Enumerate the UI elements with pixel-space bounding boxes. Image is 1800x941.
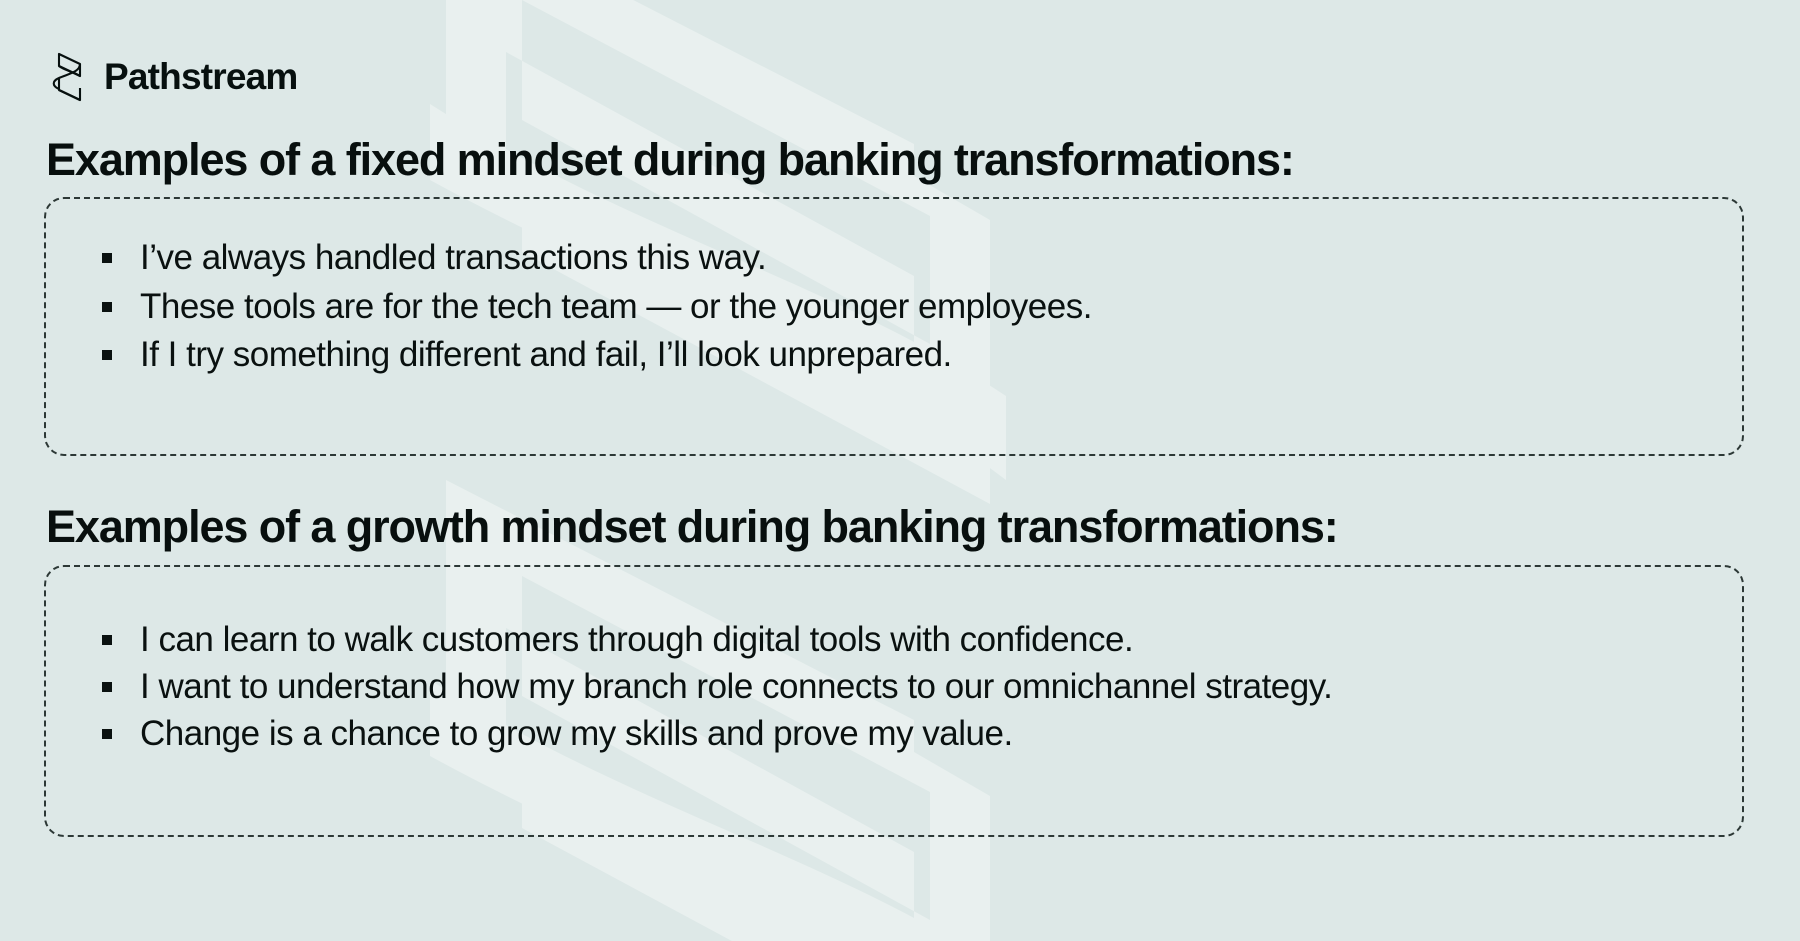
section-heading-growth: Examples of a growth mindset during bank… [46,502,1744,552]
brand-name: Pathstream [104,58,298,95]
square-bullet-icon [102,729,112,739]
pathstream-helix-icon [50,50,88,102]
square-bullet-icon [102,635,112,645]
square-bullet-icon [102,682,112,692]
list-item: I want to understand how my branch role … [102,666,1702,707]
panel-fixed-mindset: I’ve always handled transactions this wa… [44,197,1744,456]
list-item: I’ve always handled transactions this wa… [102,237,1702,278]
brand-lockup: Pathstream [50,45,1744,107]
panel-growth-mindset: I can learn to walk customers through di… [44,565,1744,837]
section-heading-fixed: Examples of a fixed mindset during banki… [46,135,1744,185]
list-item-text: I want to understand how my branch role … [140,666,1680,707]
list-item: If I try something different and fail, I… [102,334,1702,375]
square-bullet-icon [102,253,112,263]
list-item: I can learn to walk customers through di… [102,619,1702,660]
list-item: Change is a chance to grow my skills and… [102,713,1702,754]
square-bullet-icon [102,302,112,312]
list-item-text: These tools are for the tech team — or t… [140,286,1702,327]
list-item-text: Change is a chance to grow my skills and… [140,713,1680,754]
list-item: These tools are for the tech team — or t… [102,286,1702,327]
list-item-text: If I try something different and fail, I… [140,334,1702,375]
bullet-list-growth: I can learn to walk customers through di… [102,619,1702,755]
bullet-list-fixed: I’ve always handled transactions this wa… [102,237,1702,375]
list-item-text: I can learn to walk customers through di… [140,619,1680,660]
slide-root: Pathstream Examples of a fixed mindset d… [0,0,1800,941]
square-bullet-icon [102,350,112,360]
list-item-text: I’ve always handled transactions this wa… [140,237,1702,278]
